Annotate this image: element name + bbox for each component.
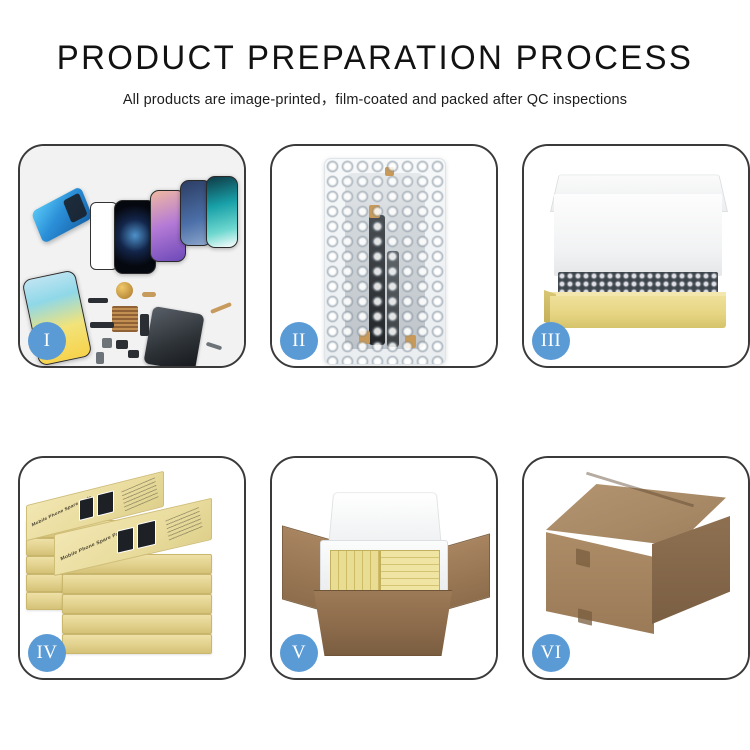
screwdriver-tool	[206, 342, 222, 351]
box-phone-graphic	[97, 490, 114, 516]
phone-backplate	[143, 306, 204, 366]
page-title: PRODUCT PREPARATION PROCESS	[11, 40, 739, 77]
product-preparation-infographic: PRODUCT PREPARATION PROCESS All products…	[0, 0, 750, 750]
process-step-panel-4: Mobile Phone Spare Parts Mobile Phone Sp…	[18, 456, 246, 680]
step-6-image: VI	[524, 458, 748, 678]
yellow-boxes-group-right	[380, 550, 440, 592]
bubble-wrap-texture	[325, 159, 445, 364]
small-part	[116, 340, 128, 349]
shipping-carton-front	[546, 530, 654, 634]
box-phone-graphic	[117, 527, 134, 554]
step-badge-4: IV	[28, 634, 66, 672]
box-phone-graphic	[137, 520, 156, 549]
small-part	[128, 350, 139, 358]
step-badge-1: I	[28, 322, 66, 360]
step-3-image: III	[524, 146, 748, 366]
small-part	[140, 314, 149, 336]
process-step-panel-5: V	[270, 456, 498, 680]
step-5-image: V	[272, 458, 496, 678]
bubble-wrap-bag	[324, 158, 446, 365]
carton-front-panel	[306, 590, 460, 656]
step-4-image: Mobile Phone Spare Parts Mobile Phone Sp…	[20, 458, 244, 678]
stacked-box	[62, 634, 212, 654]
tweezers-tool	[210, 302, 232, 314]
small-part	[88, 298, 108, 303]
stacked-box	[62, 614, 212, 634]
vibration-motor-part	[116, 282, 133, 299]
screw-tray-part	[112, 306, 138, 332]
inner-box-front	[550, 296, 726, 328]
process-step-panel-2: II	[270, 144, 498, 368]
box-spec-lines	[121, 477, 158, 512]
page-subtitle: All products are image-printed，film-coat…	[0, 88, 750, 109]
small-part	[102, 338, 112, 348]
small-part	[90, 322, 114, 328]
white-foam-padding	[554, 194, 722, 276]
screen-protector-film	[31, 186, 93, 244]
stacked-box	[62, 594, 212, 614]
box-spec-lines	[165, 507, 202, 541]
step-badge-3: III	[532, 322, 570, 360]
carton-tape-tab	[578, 608, 592, 625]
small-part	[96, 352, 104, 364]
small-part	[142, 292, 156, 297]
step-badge-2: II	[280, 322, 318, 360]
step-2-image: II	[272, 146, 496, 366]
carton-tape-tab	[576, 548, 590, 567]
process-step-grid: I II	[18, 144, 732, 680]
yellow-boxes-group-left	[330, 550, 380, 592]
process-step-panel-3: III	[522, 144, 750, 368]
box-phone-graphic	[79, 496, 94, 521]
step-1-image: I	[20, 146, 244, 366]
stacked-box	[62, 574, 212, 594]
process-step-panel-6: VI	[522, 456, 750, 680]
header: PRODUCT PREPARATION PROCESS All products…	[0, 0, 750, 109]
phone-screen-teal	[206, 176, 238, 248]
step-badge-6: VI	[532, 634, 570, 672]
step-badge-5: V	[280, 634, 318, 672]
process-step-panel-1: I	[18, 144, 246, 368]
